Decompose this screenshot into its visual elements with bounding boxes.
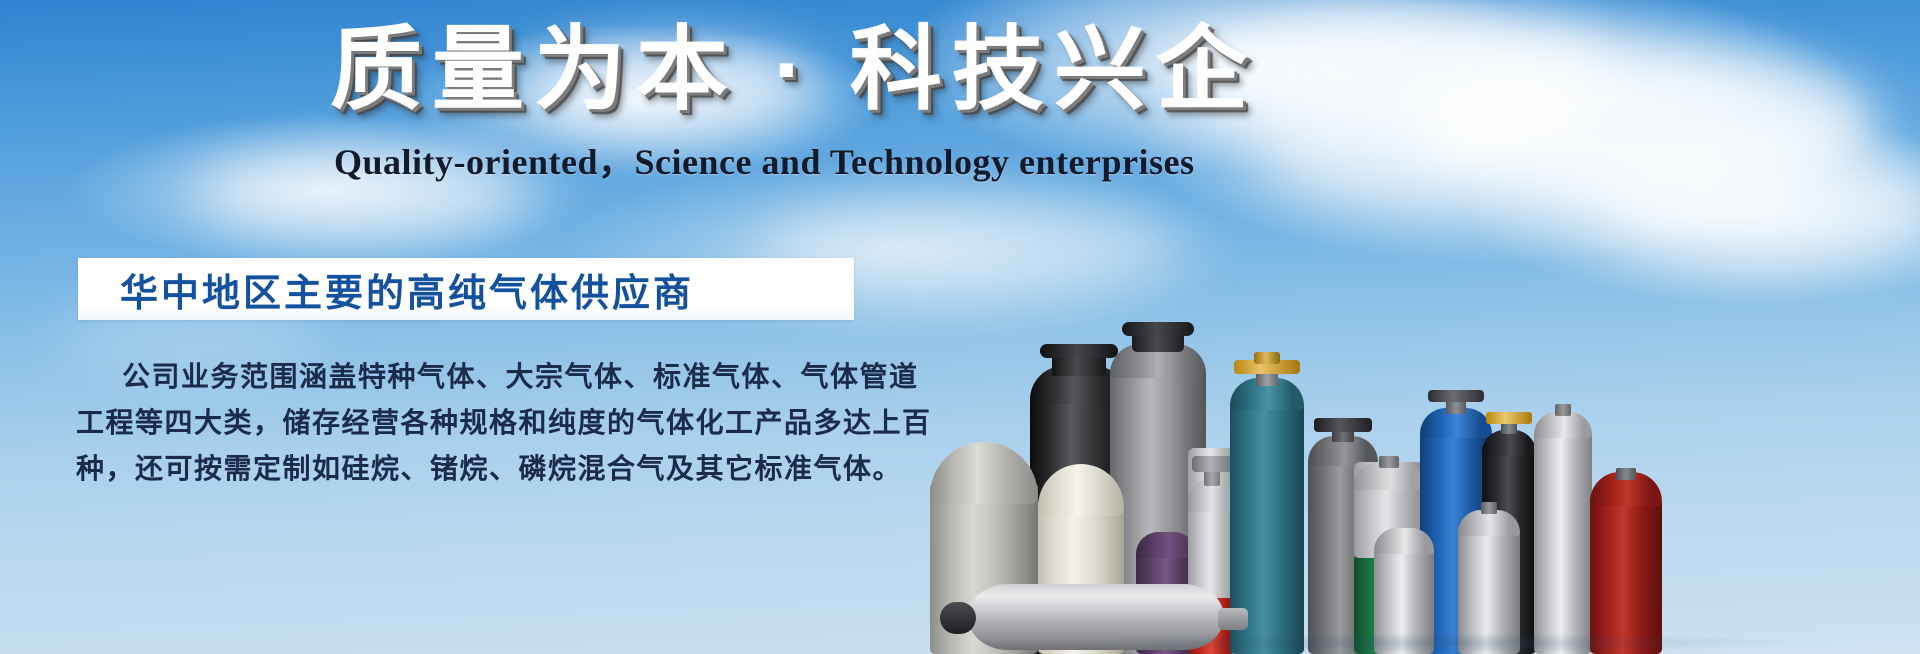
- highlight-band: 华中地区主要的高纯气体供应商: [78, 258, 854, 320]
- description-paragraph: 公司业务范围涵盖特种气体、大宗气体、标准气体、气体管道 工程等四大类，储存经营各…: [76, 355, 866, 493]
- description-line-1: 公司业务范围涵盖特种气体、大宗气体、标准气体、气体管道: [76, 355, 866, 401]
- description-line-3: 种，还可按需定制如硅烷、锗烷、磷烷混合气及其它标准气体。: [76, 447, 866, 493]
- silver-cylinder: [1534, 400, 1592, 654]
- product-shadow: [950, 628, 1920, 654]
- gas-cylinder-group: [930, 150, 1920, 654]
- cylinder-valve: [1192, 456, 1232, 472]
- dark-red-cylinder: [1590, 466, 1662, 654]
- description-line-2: 工程等四大类，储存经营各种规格和纯度的气体化工产品多达上百: [76, 401, 866, 447]
- page-title: 质量为本 · 科技兴企: [330, 22, 1250, 119]
- highlight-band-label: 华中地区主要的高纯气体供应商: [120, 258, 694, 320]
- page-subtitle: Quality-oriented，Science and Technology …: [334, 133, 1234, 185]
- promotional-banner: 质量为本 · 科技兴企 Quality-oriented，Science and…: [0, 0, 1920, 654]
